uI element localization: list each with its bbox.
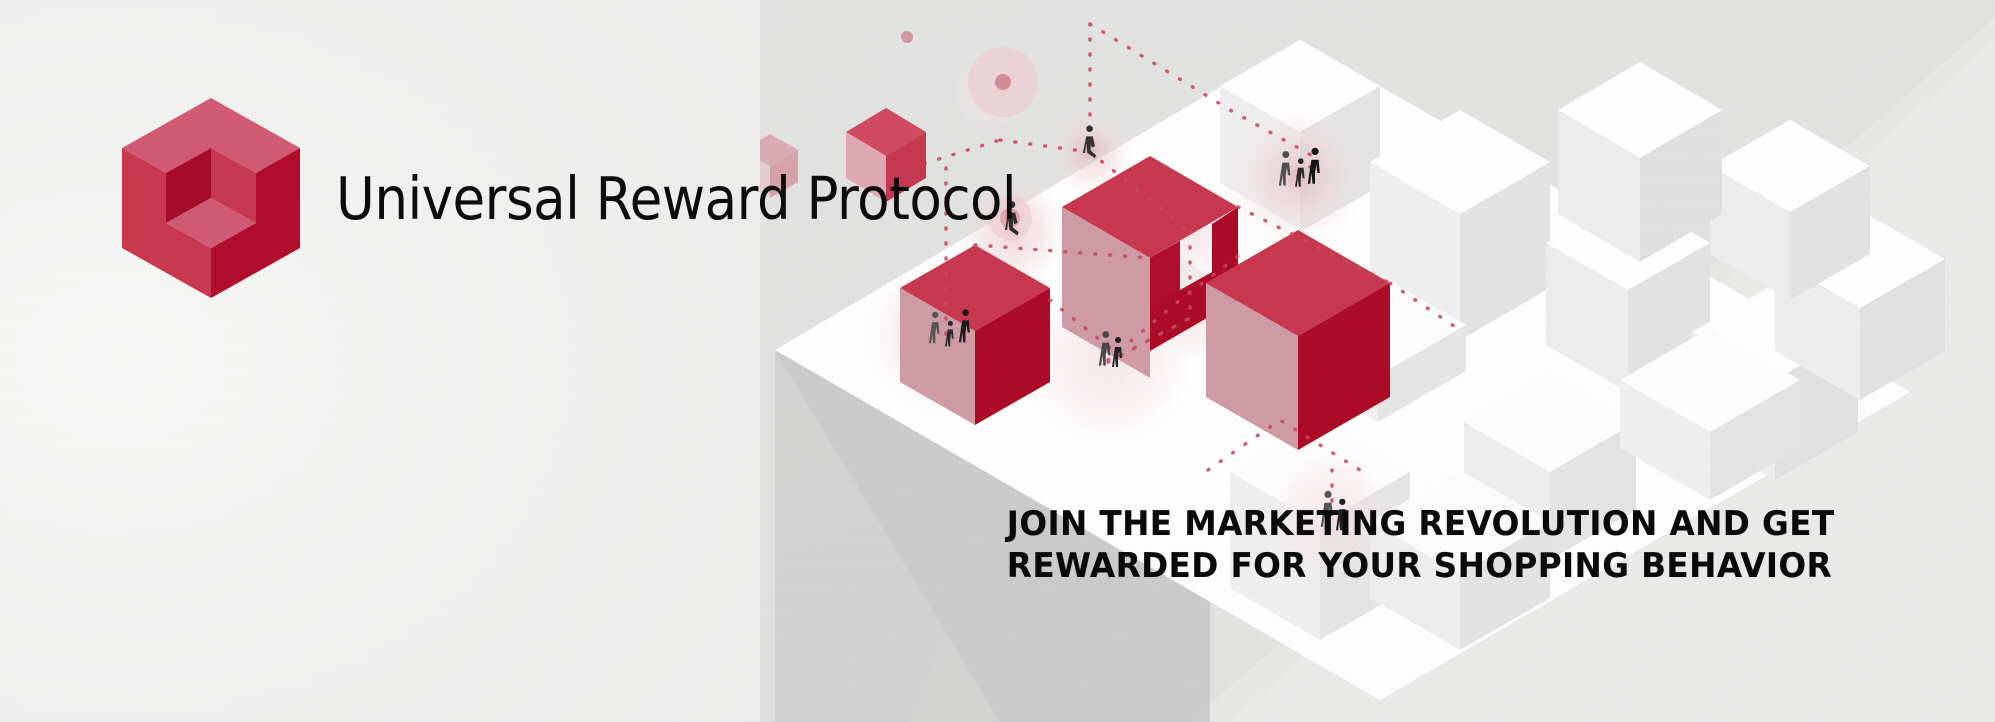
- tagline-line-2: REWARDED FOR YOUR SHOPPING BEHAVIOR: [1007, 545, 1813, 587]
- hero-tagline: JOIN THE MARKETING REVOLUTION AND GET RE…: [1007, 503, 1813, 587]
- floating-dot: [901, 31, 913, 43]
- tagline-line-1: JOIN THE MARKETING REVOLUTION AND GET: [1007, 503, 1813, 545]
- brand-wordmark: Universal Reward Protocol: [336, 169, 1016, 228]
- brand-lockup[interactable]: Universal Reward Protocol: [122, 98, 1092, 298]
- hero-banner: Universal Reward Protocol JOIN THE MARKE…: [0, 0, 1995, 722]
- isometric-notched-cube-logo[interactable]: [122, 98, 300, 298]
